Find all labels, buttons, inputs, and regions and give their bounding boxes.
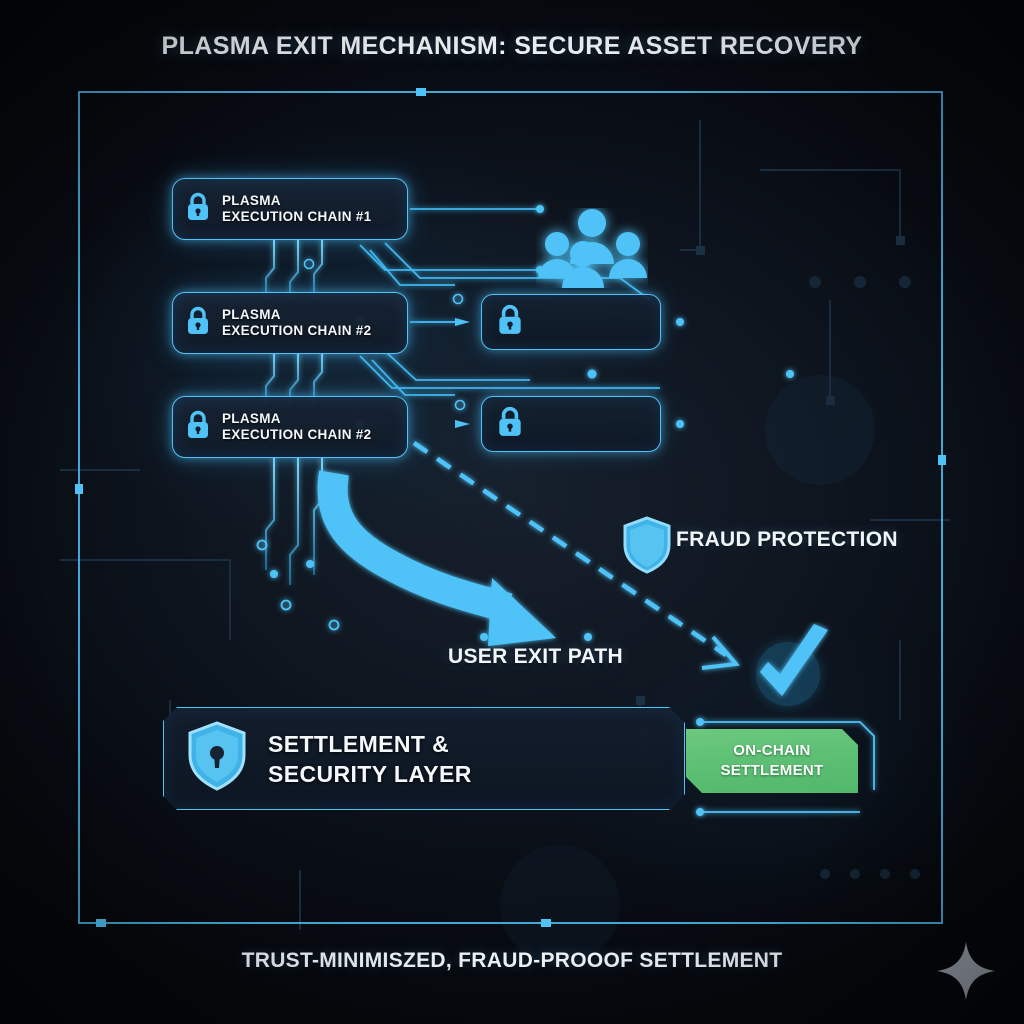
- on-chain-badge-line2: SETTLEMENT: [721, 761, 824, 781]
- settlement-security-layer-panel[interactable]: SETTLEMENT & SECURITY LAYER: [163, 707, 685, 810]
- shield-keyhole-icon: [186, 720, 248, 797]
- page-title: PLASMA EXIT MECHANISM: SECURE ASSET RECO…: [0, 32, 1024, 61]
- page-footer-tagline: TRUST-MINIMISZED, FRAUD-PROOOF SETTLEMEN…: [0, 949, 1024, 973]
- fraud-protection-label: FRAUD PROTECTION: [676, 528, 898, 552]
- settlement-label: SETTLEMENT & SECURITY LAYER: [268, 729, 472, 789]
- infographic-canvas: PLASMA EXECUTION CHAIN #1 PLASMA EXECUTI…: [0, 0, 1024, 1024]
- fraud-proof-dashed-path: [0, 0, 1024, 1024]
- on-chain-settlement-badge[interactable]: ON-CHAIN SETTLEMENT: [686, 729, 858, 793]
- checkmark-icon: [744, 622, 840, 719]
- sparkle-icon: [935, 940, 997, 1007]
- on-chain-badge-line1: ON-CHAIN: [733, 741, 810, 761]
- user-exit-path-label: USER EXIT PATH: [448, 645, 623, 669]
- shield-icon: [621, 515, 673, 580]
